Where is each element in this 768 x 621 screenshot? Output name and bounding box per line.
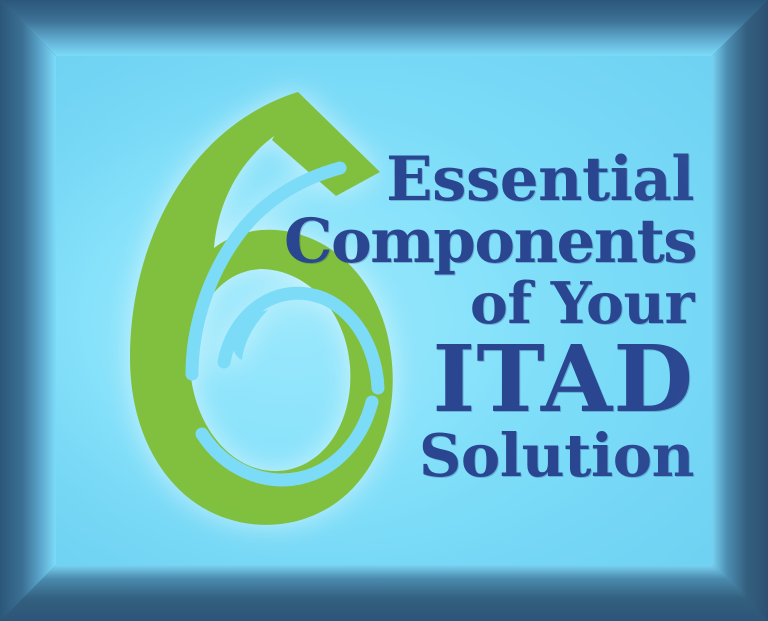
headline-line-2: Components: [284, 214, 694, 270]
frame-bevel-bottom: [0, 565, 768, 621]
frame-bevel-top: [0, 0, 768, 56]
frame-bevel-left: [0, 0, 56, 621]
headline-line-1: Essential: [284, 152, 694, 208]
poster-headline: Essential Components of Your ITAD Soluti…: [284, 152, 694, 484]
itad-poster: Essential Components of Your ITAD Soluti…: [0, 0, 768, 621]
headline-line-4-itad: ITAD: [284, 337, 694, 422]
headline-line-3: of Your: [284, 278, 694, 330]
frame-bevel-right: [712, 0, 768, 621]
headline-line-5: Solution: [284, 429, 694, 483]
poster-panel: Essential Components of Your ITAD Soluti…: [56, 56, 712, 565]
